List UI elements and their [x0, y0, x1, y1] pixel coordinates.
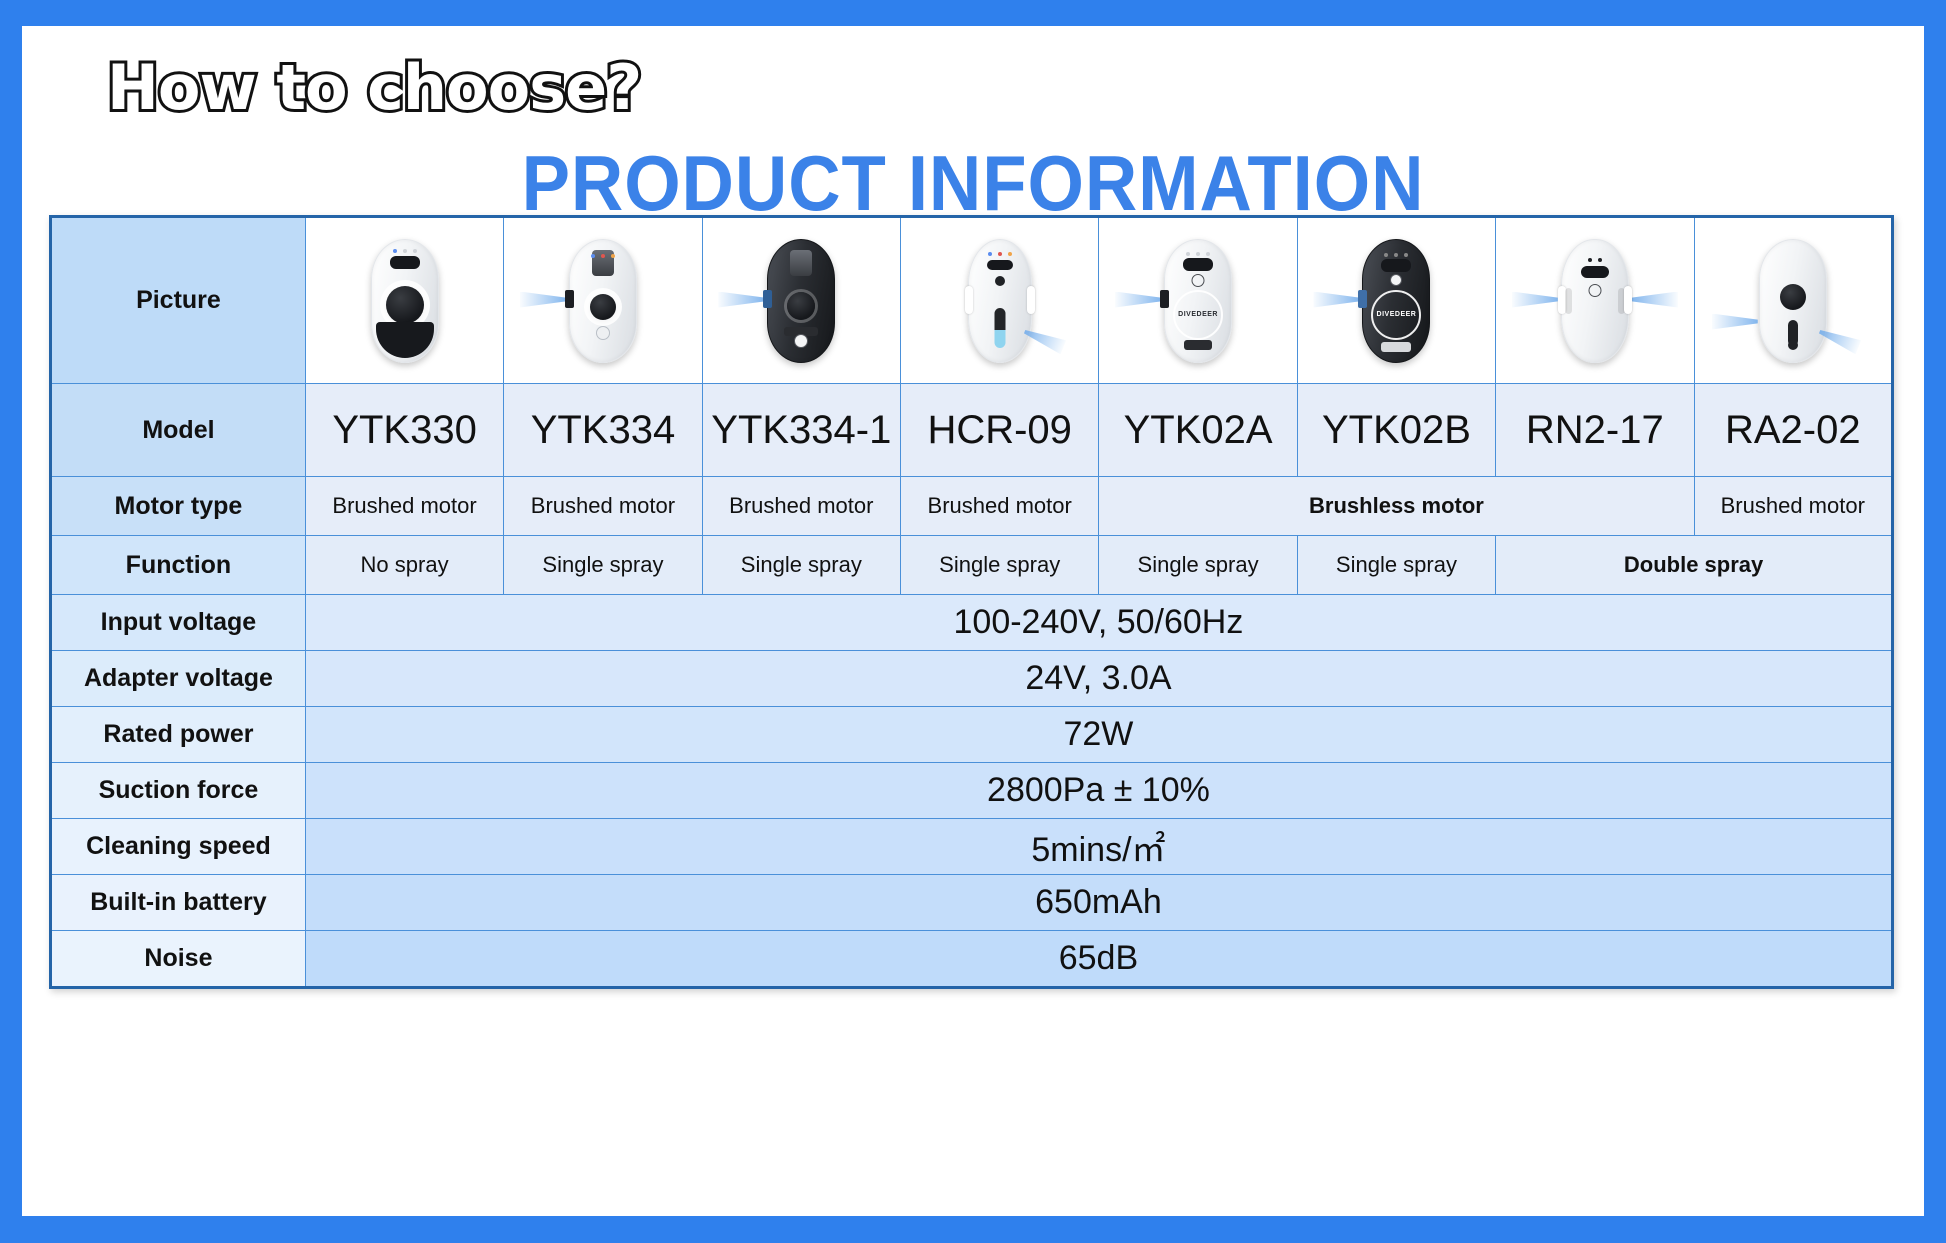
product-image-ytk334 — [504, 217, 702, 384]
function-cell-0: No spray — [305, 536, 503, 595]
spray-jet-icon — [1115, 292, 1161, 308]
row-label-suction-force: Suction force — [51, 763, 306, 819]
product-image-ra2-02 — [1694, 217, 1892, 384]
motor-cell-0: Brushed motor — [305, 477, 503, 536]
model-cell-4: YTK02A — [1099, 384, 1297, 477]
model-cell-5: YTK02B — [1297, 384, 1495, 477]
motor-cell-5: Brushed motor — [1694, 477, 1892, 536]
product-image-hcr-09 — [901, 217, 1099, 384]
product-image-ytk334-1 — [702, 217, 900, 384]
table-row-function: Function No spray Single spray Single sp… — [51, 536, 1893, 595]
table-row-motor-type: Motor type Brushed motor Brushed motor B… — [51, 477, 1893, 536]
model-cell-3: HCR-09 — [901, 384, 1099, 477]
function-cell-3: Single spray — [901, 536, 1099, 595]
row-label-noise: Noise — [51, 931, 306, 988]
value-input-voltage: 100-240V, 50/60Hz — [305, 595, 1892, 651]
row-label-rated-power: Rated power — [51, 707, 306, 763]
function-cell-2: Single spray — [702, 536, 900, 595]
page-canvas: How to choose? PRODUCT INFORMATION Pictu… — [22, 26, 1924, 1216]
value-built-in-battery: 650mAh — [305, 875, 1892, 931]
value-suction-force: 2800Pa ± 10% — [305, 763, 1892, 819]
model-cell-7: RA2-02 — [1694, 384, 1892, 477]
table-row-suction-force: Suction force 2800Pa ± 10% — [51, 763, 1893, 819]
row-label-model: Model — [51, 384, 306, 477]
spray-jet-icon — [1512, 292, 1558, 308]
function-cell-6: Double spray — [1496, 536, 1893, 595]
model-cell-2: YTK334-1 — [702, 384, 900, 477]
spray-jet-icon — [1313, 292, 1359, 308]
spec-table-wrapper: Picture — [49, 215, 1894, 989]
product-image-ytk02b: DIVEDEER — [1297, 217, 1495, 384]
model-cell-1: YTK334 — [504, 384, 702, 477]
motor-cell-4: Brushless motor — [1099, 477, 1694, 536]
row-label-input-voltage: Input voltage — [51, 595, 306, 651]
value-noise: 65dB — [305, 931, 1892, 988]
product-image-rn2-17 — [1496, 217, 1694, 384]
spray-jet-icon — [1816, 324, 1861, 354]
row-label-function: Function — [51, 536, 306, 595]
row-label-motor-type: Motor type — [51, 477, 306, 536]
row-label-cleaning-speed: Cleaning speed — [51, 819, 306, 875]
product-image-ytk02a: DIVEDEER — [1099, 217, 1297, 384]
function-cell-5: Single spray — [1297, 536, 1495, 595]
table-row-cleaning-speed: Cleaning speed 5mins/㎡ — [51, 819, 1893, 875]
value-rated-power: 72W — [305, 707, 1892, 763]
table-row-input-voltage: Input voltage 100-240V, 50/60Hz — [51, 595, 1893, 651]
kicker-heading: How to choose? — [107, 51, 641, 124]
product-image-ytk330 — [305, 217, 503, 384]
spray-jet-icon — [520, 292, 566, 308]
function-cell-4: Single spray — [1099, 536, 1297, 595]
table-row-model: Model YTK330 YTK334 YTK334-1 HCR-09 YTK0… — [51, 384, 1893, 477]
value-adapter-voltage: 24V, 3.0A — [305, 651, 1892, 707]
table-row-noise: Noise 65dB — [51, 931, 1893, 988]
spray-jet-icon — [1021, 324, 1066, 354]
value-cleaning-speed: 5mins/㎡ — [305, 819, 1892, 875]
model-cell-6: RN2-17 — [1496, 384, 1694, 477]
row-label-adapter-voltage: Adapter voltage — [51, 651, 306, 707]
function-cell-1: Single spray — [504, 536, 702, 595]
spray-jet-icon — [1632, 292, 1678, 308]
product-spec-table: Picture — [49, 215, 1894, 989]
product-brand-label: DIVEDEER — [1377, 311, 1417, 318]
spray-jet-icon — [1712, 314, 1758, 330]
row-label-built-in-battery: Built-in battery — [51, 875, 306, 931]
product-brand-label: DIVEDEER — [1178, 311, 1218, 318]
motor-cell-1: Brushed motor — [504, 477, 702, 536]
row-label-picture: Picture — [51, 217, 306, 384]
table-row-rated-power: Rated power 72W — [51, 707, 1893, 763]
table-row-built-in-battery: Built-in battery 650mAh — [51, 875, 1893, 931]
motor-cell-2: Brushed motor — [702, 477, 900, 536]
model-cell-0: YTK330 — [305, 384, 503, 477]
spray-jet-icon — [718, 292, 764, 308]
table-row-adapter-voltage: Adapter voltage 24V, 3.0A — [51, 651, 1893, 707]
motor-cell-3: Brushed motor — [901, 477, 1099, 536]
table-row-picture: Picture — [51, 217, 1893, 384]
